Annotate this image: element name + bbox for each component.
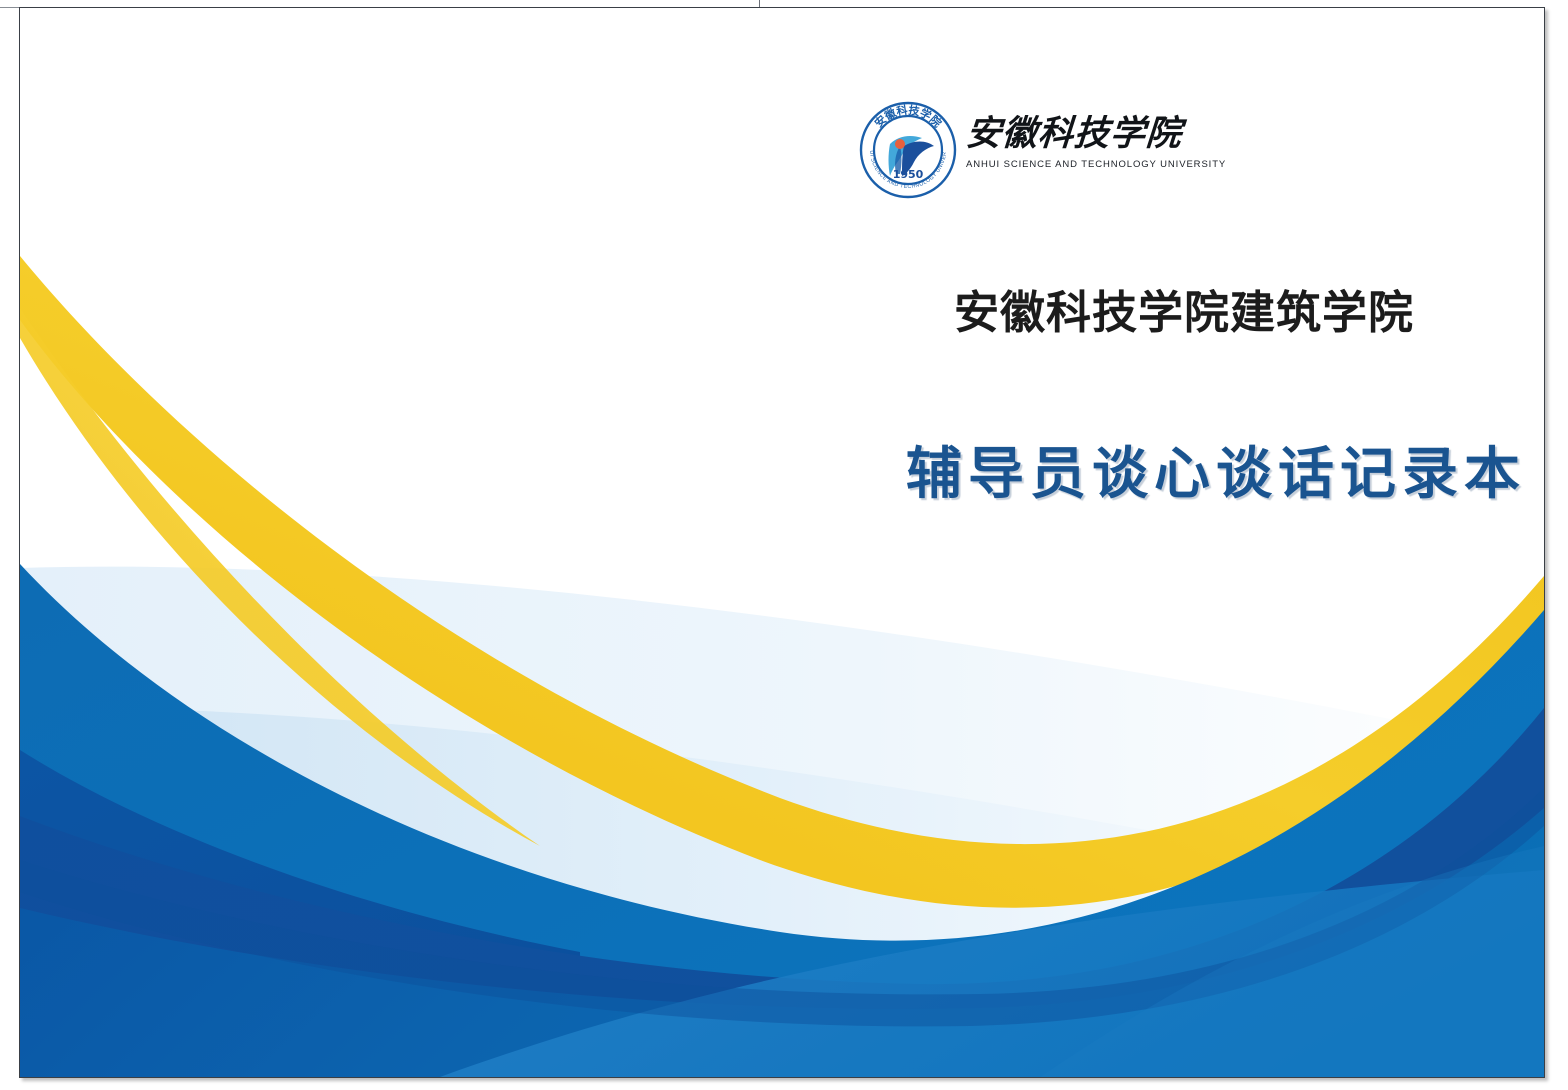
svg-text:1950: 1950 (893, 168, 924, 181)
university-wordmark: 安徽科技学院 ANHUI SCIENCE AND TECHNOLOGY UNIV… (966, 112, 1178, 188)
college-name: 安徽科技学院建筑学院 (954, 284, 1414, 342)
wordmark-english: ANHUI SCIENCE AND TECHNOLOGY UNIVERSITY (966, 159, 1178, 171)
screenshot-canvas: 安徽科技学院 ANHUI SCIENCE AND TECHNOLOGY UNIV… (0, 0, 1568, 1090)
page-title: 辅导员谈心谈话记录本 (906, 438, 1526, 510)
cover-page-sheet: 安徽科技学院 ANHUI SCIENCE AND TECHNOLOGY UNIV… (19, 7, 1545, 1078)
wordmark-chinese: 安徽科技学院 (964, 112, 1179, 156)
wave-artwork (20, 8, 1544, 1077)
university-logo: 安徽科技学院 ANHUI SCIENCE AND TECHNOLOGY UNIV… (858, 100, 1178, 200)
university-seal-icon: 安徽科技学院 ANHUI SCIENCE AND TECHNOLOGY UNIV… (858, 100, 958, 200)
